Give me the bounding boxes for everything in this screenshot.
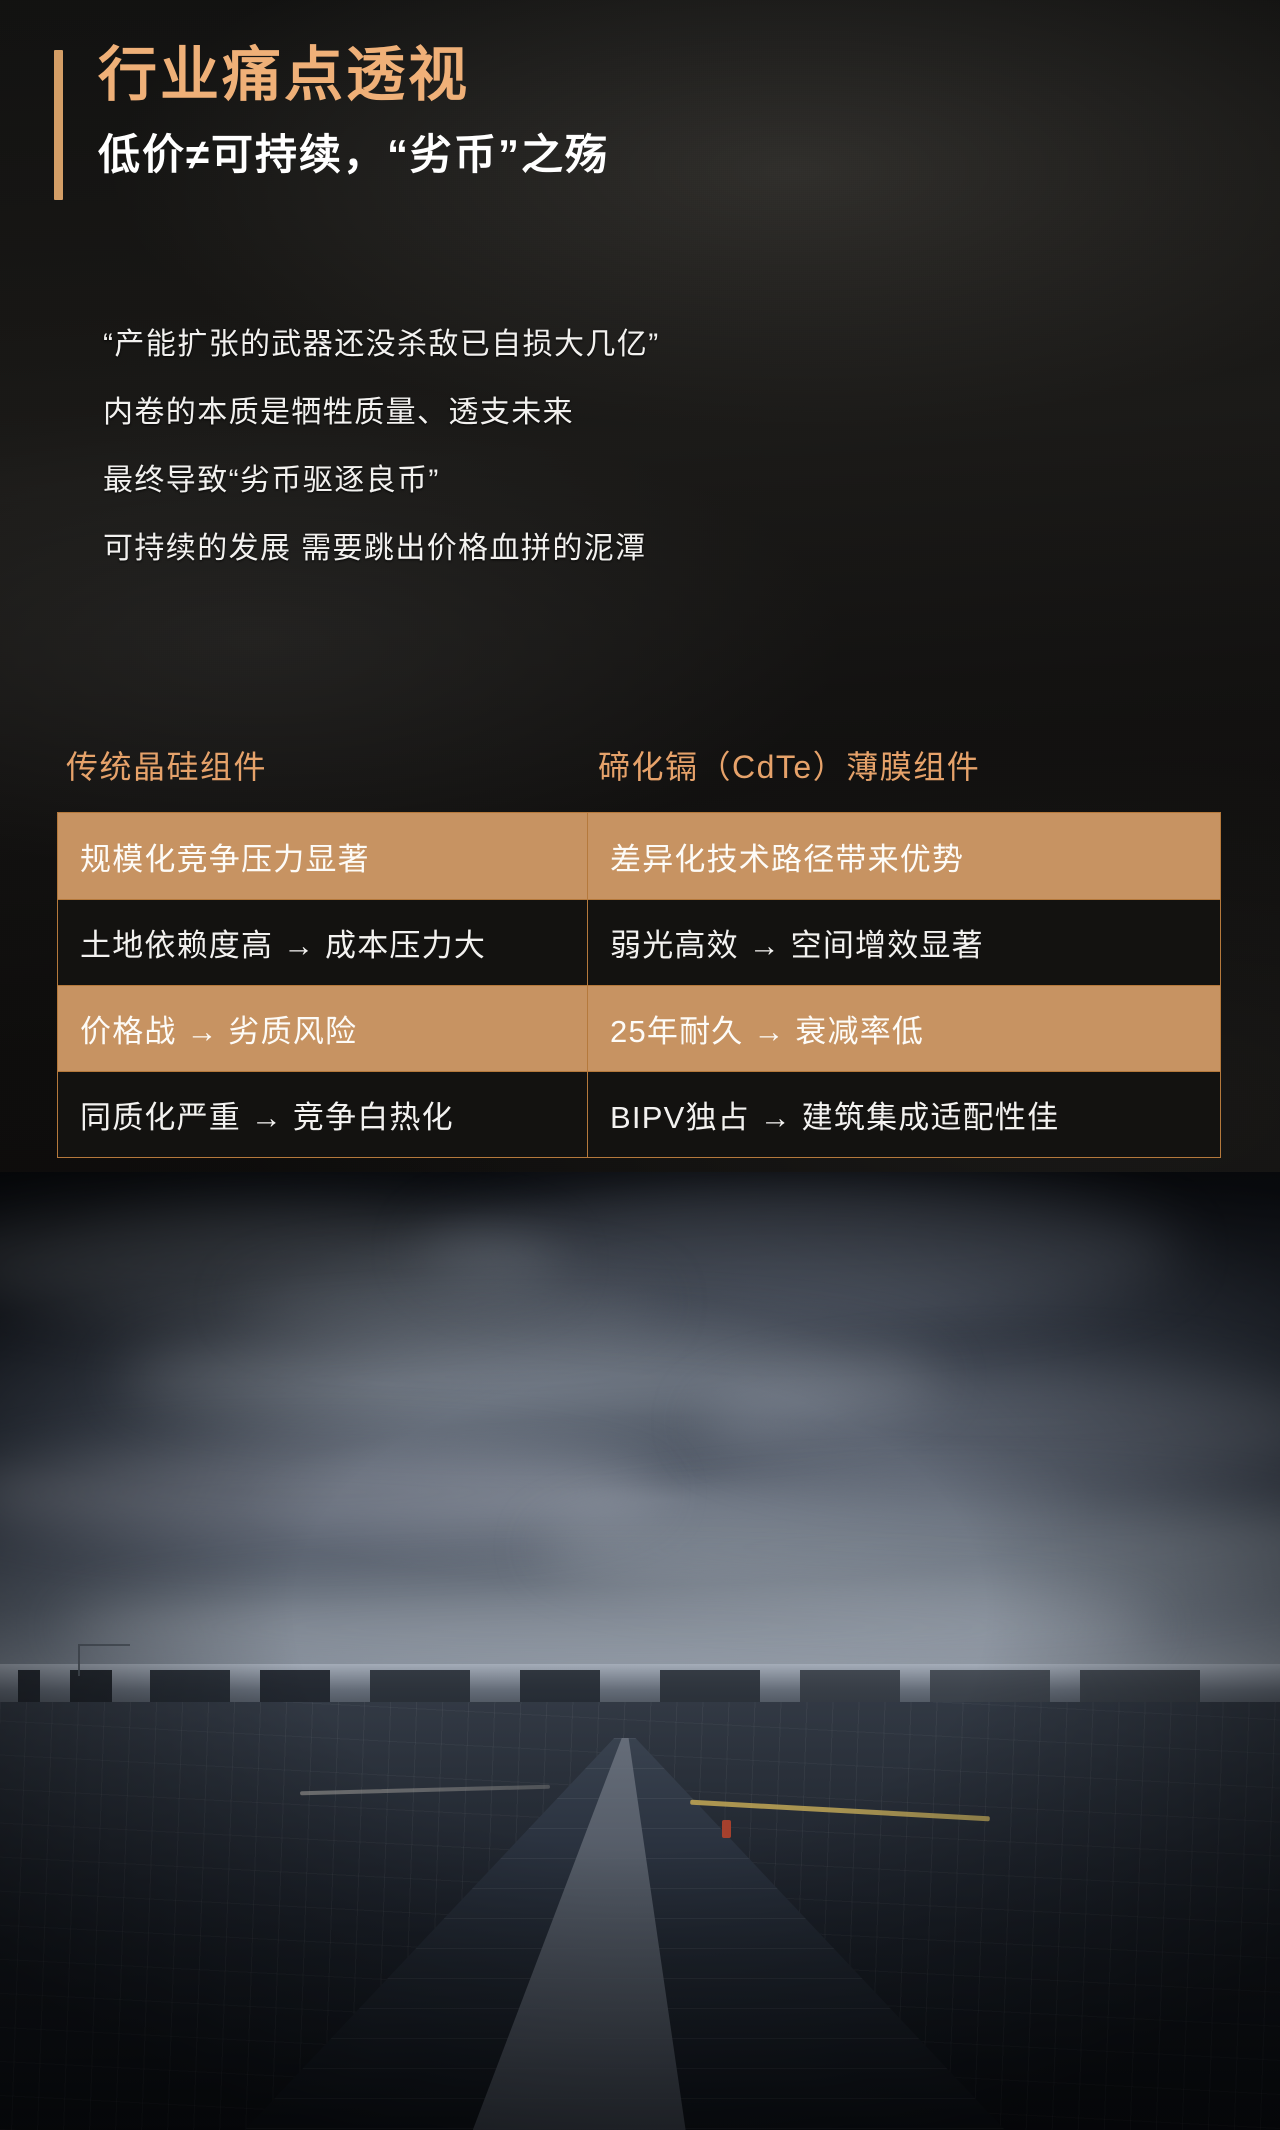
page-title: 行业痛点透视 xyxy=(98,42,954,108)
cloud-shape xyxy=(700,1362,1280,1482)
sky-backdrop xyxy=(0,1172,1280,1702)
comparison-section: 传统晶硅组件 碲化镉（CdTe）薄膜组件 规模化竞争压力显著 差异化技术路径带来… xyxy=(57,742,1221,1158)
table-cell-left: 同质化严重 → 竞争白热化 xyxy=(58,1071,588,1157)
table-cell-left: 土地依赖度高 → 成本压力大 xyxy=(58,899,588,985)
body-line: “产能扩张的武器还没杀敌已自损大几亿” xyxy=(103,330,1003,360)
poster-page: 行业痛点透视 低价≠可持续，“劣币”之殇 “产能扩张的武器还没杀敌已自损大几亿”… xyxy=(0,0,1280,2130)
page-subtitle: 低价≠可持续，“劣币”之殇 xyxy=(98,130,954,180)
table-cell-right: 差异化技术路径带来优势 xyxy=(588,813,1220,899)
column-header-traditional: 传统晶硅组件 xyxy=(57,742,587,788)
roof-surface xyxy=(0,1702,1280,2130)
body-paragraph-block: “产能扩张的武器还没杀敌已自损大几亿” 内卷的本质是牺牲质量、透支未来 最终导致… xyxy=(103,330,1003,564)
body-line: 最终导致“劣币驱逐良币” xyxy=(103,466,1003,496)
table-row: 土地依赖度高 → 成本压力大 弱光高效 → 空间增效显著 xyxy=(58,899,1220,985)
table-cell-right: BIPV独占 → 建筑集成适配性佳 xyxy=(588,1071,1220,1157)
table-row: 规模化竞争压力显著 差异化技术路径带来优势 xyxy=(58,813,1220,899)
red-marker xyxy=(722,1820,731,1838)
comparison-table: 规模化竞争压力显著 差异化技术路径带来优势 土地依赖度高 → 成本压力大 弱光高… xyxy=(57,812,1221,1158)
table-cell-right: 弱光高效 → 空间增效显著 xyxy=(588,899,1220,985)
table-cell-left: 价格战 → 劣质风险 xyxy=(58,985,588,1071)
table-row: 同质化严重 → 竞争白热化 BIPV独占 → 建筑集成适配性佳 xyxy=(58,1071,1220,1157)
table-cell-left: 规模化竞争压力显著 xyxy=(58,813,588,899)
construction-crane xyxy=(78,1644,130,1676)
body-line: 可持续的发展 需要跳出价格血拼的泥潭 xyxy=(103,534,1003,564)
column-header-cdte: 碲化镉（CdTe）薄膜组件 xyxy=(587,742,1221,788)
body-line: 内卷的本质是牺牲质量、透支未来 xyxy=(103,398,1003,428)
header-text-group: 行业痛点透视 低价≠可持续，“劣币”之殇 xyxy=(98,42,954,180)
table-row: 价格战 → 劣质风险 25年耐久 → 衰减率低 xyxy=(58,985,1220,1071)
comparison-column-headers: 传统晶硅组件 碲化镉（CdTe）薄膜组件 xyxy=(57,742,1221,788)
poster-header: 行业痛点透视 低价≠可持续，“劣币”之殇 xyxy=(54,42,954,180)
cloud-shape xyxy=(0,1442,660,1542)
accent-bar xyxy=(54,50,63,200)
table-cell-right: 25年耐久 → 衰减率低 xyxy=(588,985,1220,1071)
rooftop-solar-photo xyxy=(0,1172,1280,2130)
